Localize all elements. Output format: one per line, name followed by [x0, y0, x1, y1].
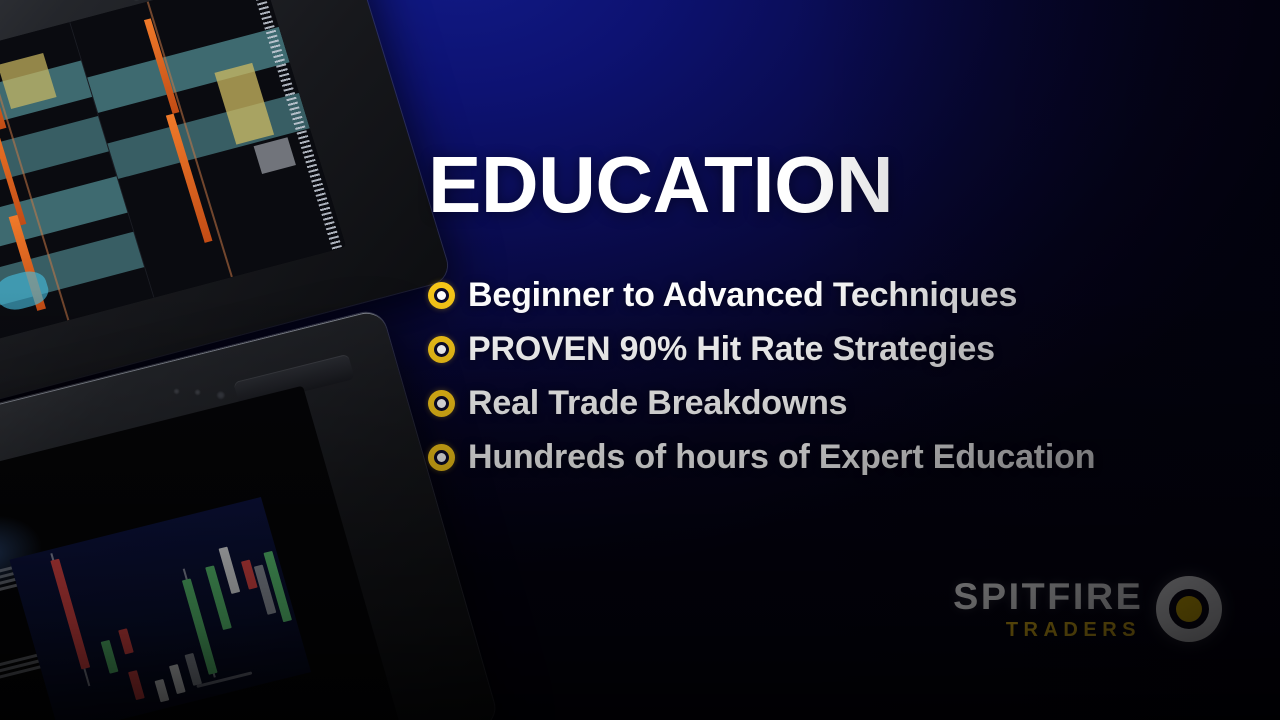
brand-name-primary: SPITFIRE [954, 578, 1144, 615]
slide-root: EDUCATION Beginner to Advanced Technique… [0, 0, 1280, 720]
power-button-icon [131, 0, 142, 2]
list-item-label: Real Trade Breakdowns [468, 384, 847, 423]
laptop-screen-bottom [0, 386, 399, 720]
target-bullet-icon [428, 336, 455, 363]
list-item: PROVEN 90% Hit Rate Strategies [428, 322, 1188, 376]
feature-bullet-list: Beginner to Advanced Techniques PROVEN 9… [428, 268, 1188, 484]
list-item: Real Trade Breakdowns [428, 376, 1188, 430]
target-bullet-icon [428, 282, 455, 309]
list-item: Beginner to Advanced Techniques [428, 268, 1188, 322]
brand-logo: SPITFIRE TRADERS [955, 576, 1222, 642]
brand-wordmark: SPITFIRE TRADERS [955, 578, 1142, 640]
list-item-label: Beginner to Advanced Techniques [468, 276, 1017, 315]
sensor-dot-icon [194, 389, 201, 396]
brand-name-secondary: TRADERS [1006, 620, 1141, 640]
bullseye-target-icon [1156, 576, 1222, 642]
tablet-screen-top [0, 0, 346, 352]
candlestick-chart [9, 497, 310, 720]
power-button-icon [215, 390, 226, 401]
list-item-label: Hundreds of hours of Expert Education [468, 438, 1095, 477]
list-item: Hundreds of hours of Expert Education [428, 430, 1188, 484]
target-bullet-icon [428, 444, 455, 471]
target-bullet-icon [428, 390, 455, 417]
list-item-label: PROVEN 90% Hit Rate Strategies [468, 330, 995, 369]
camera-dot-icon [173, 388, 180, 395]
page-title: EDUCATION [428, 145, 893, 225]
